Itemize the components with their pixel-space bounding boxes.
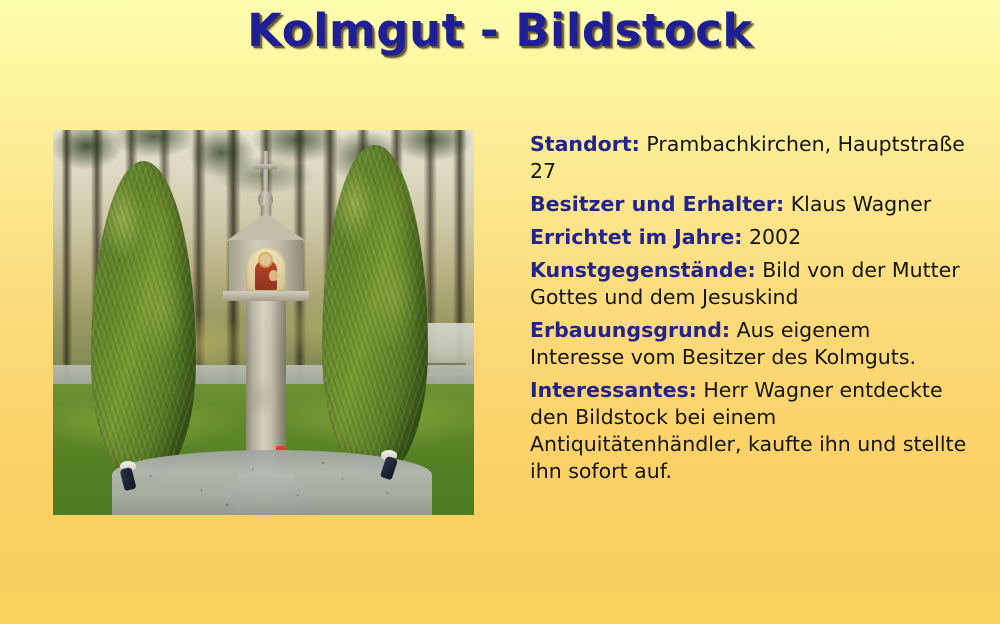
info-item-besitzer: Besitzer und Erhalter: Klaus Wagner: [530, 191, 970, 218]
info-item-interessantes: Interessantes: Herr Wagner entdeckte den…: [530, 377, 970, 485]
wayside-shrine: [224, 151, 308, 482]
info-value: 2002: [742, 225, 801, 249]
info-item-kunstgegenstaende: Kunstgegenstände: Bild von der Mutter Go…: [530, 257, 970, 311]
info-item-errichtet: Errichtet im Jahre: 2002: [530, 224, 970, 251]
photo-scene: [53, 130, 474, 515]
slide: Kolmgut - Bildstock: [0, 0, 1000, 624]
info-item-standort: Standort: Prambachkirchen, Hauptstraße 2…: [530, 131, 970, 185]
gable-roof: [226, 213, 306, 241]
info-label: Besitzer und Erhalter:: [530, 192, 784, 216]
stone-cross-icon: [263, 151, 268, 195]
garden-lamp-right: [381, 450, 403, 484]
garden-lamp-left: [120, 461, 142, 495]
info-label: Standort:: [530, 132, 640, 156]
info-label: Kunstgegenstände:: [530, 258, 756, 282]
info-label: Interessantes:: [530, 378, 697, 402]
shrine-cornice: [223, 291, 309, 301]
icon-niche: [246, 247, 286, 291]
jesus-child: [269, 270, 278, 281]
info-label: Erbauungsgrund:: [530, 318, 730, 342]
info-item-erbauungsgrund: Erbauungsgrund: Aus eigenem Interesse vo…: [530, 317, 970, 371]
page-title: Kolmgut - Bildstock: [247, 4, 753, 57]
info-list: Standort: Prambachkirchen, Hauptstraße 2…: [530, 131, 970, 491]
lamp-body: [120, 467, 137, 491]
bildstock-photo: [53, 130, 474, 515]
info-label: Errichtet im Jahre:: [530, 225, 742, 249]
info-value: Klaus Wagner: [784, 192, 931, 216]
title-bar: Kolmgut - Bildstock: [0, 4, 1000, 57]
